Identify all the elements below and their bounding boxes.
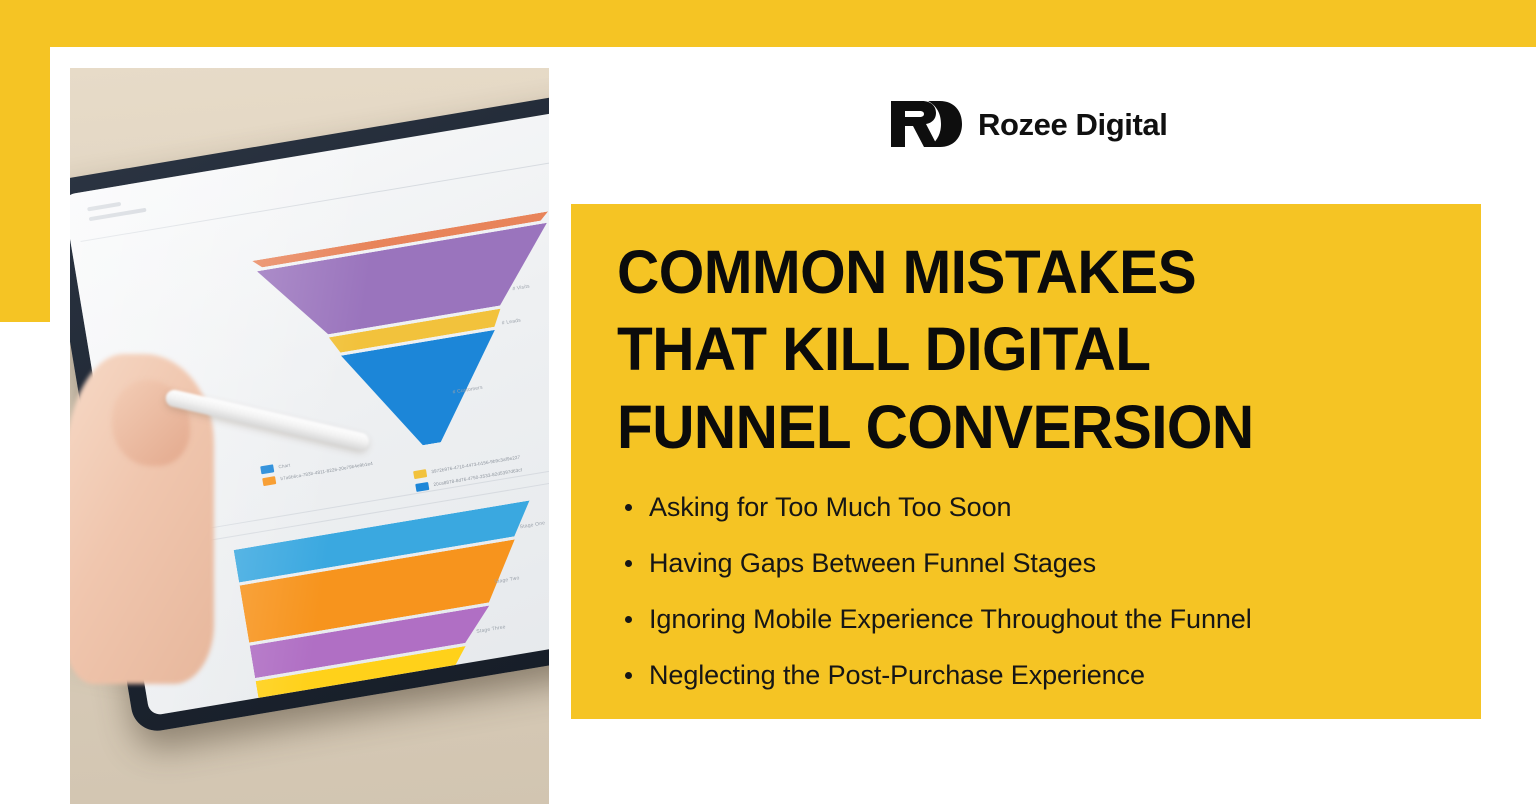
headline-line-1: COMMON MISTAKES	[617, 234, 1414, 311]
legend-swatch	[413, 469, 427, 479]
funnel-segment-label: # Visits	[512, 283, 530, 292]
headline-line-2: THAT KILL DIGITAL	[617, 311, 1414, 388]
bullet-dot-icon	[625, 560, 632, 567]
ui-chip	[87, 202, 121, 212]
top-accent-bar	[0, 0, 1536, 47]
list-item: Ignoring Mobile Experience Throughout th…	[617, 604, 1467, 635]
legend-label: Chart	[278, 463, 290, 470]
rozee-d-monogram-icon	[888, 98, 962, 150]
list-item-label: Having Gaps Between Funnel Stages	[649, 548, 1096, 578]
bullet-dot-icon	[625, 672, 632, 679]
list-item: Asking for Too Much Too Soon	[617, 492, 1467, 523]
funnel-segment-label: # Leads	[501, 317, 521, 326]
mistakes-list: Asking for Too Much Too Soon Having Gaps…	[617, 492, 1467, 691]
poster-canvas: # Visits # Leads # Customers Chart b7a6b…	[0, 0, 1536, 804]
list-item-label: Neglecting the Post-Purchase Experience	[649, 660, 1145, 690]
funnel-segment-label: Stage One	[519, 520, 545, 530]
hero-photo: # Visits # Leads # Customers Chart b7a6b…	[70, 68, 549, 804]
legend-swatch	[260, 464, 274, 474]
page-title: COMMON MISTAKES THAT KILL DIGITAL FUNNEL…	[617, 234, 1414, 466]
headline-line-3: FUNNEL CONVERSION	[617, 389, 1414, 466]
list-item-label: Ignoring Mobile Experience Throughout th…	[649, 604, 1252, 634]
legend-swatch	[262, 476, 276, 486]
left-accent-block	[0, 0, 50, 322]
bullet-dot-icon	[625, 504, 632, 511]
list-item-label: Asking for Too Much Too Soon	[649, 492, 1011, 522]
brand-name: Rozee Digital	[978, 109, 1167, 140]
list-item: Having Gaps Between Funnel Stages	[617, 548, 1467, 579]
content-panel: COMMON MISTAKES THAT KILL DIGITAL FUNNEL…	[571, 204, 1481, 719]
bullet-dot-icon	[625, 616, 632, 623]
funnel-segment-label: Stage Three	[476, 624, 506, 635]
list-item: Neglecting the Post-Purchase Experience	[617, 660, 1467, 691]
brand-logo: Rozee Digital	[888, 98, 1167, 150]
